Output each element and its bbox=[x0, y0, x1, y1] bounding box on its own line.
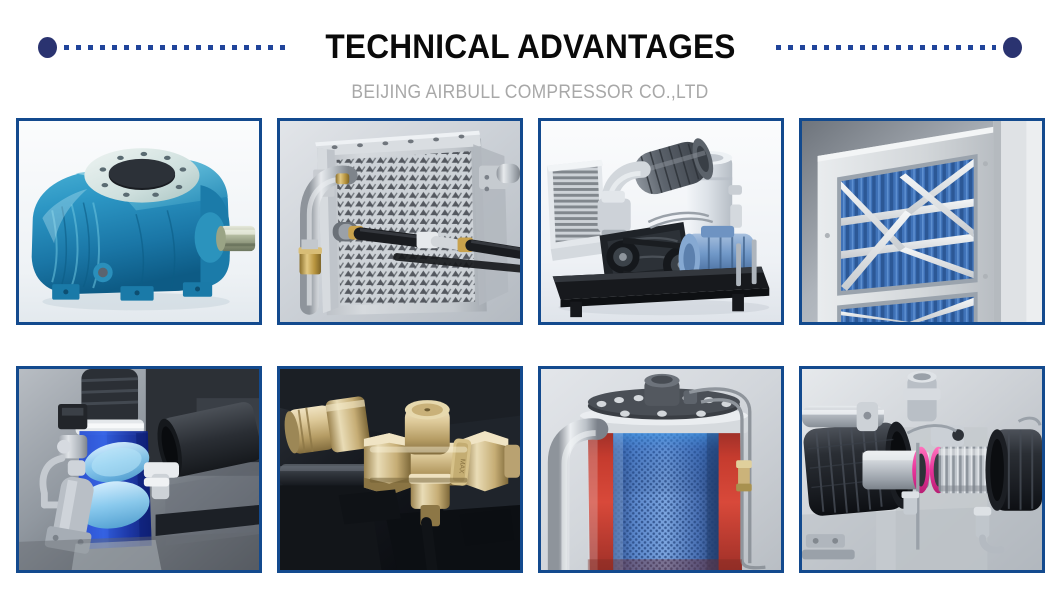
gallery-item-oil-separator-tank-cutaway[interactable] bbox=[538, 366, 784, 573]
air-filter-housing-cutaway-photo bbox=[802, 369, 1042, 570]
pleated-air-filter-panel-photo bbox=[802, 121, 1042, 322]
oil-separator-tank-cutaway-photo bbox=[541, 369, 781, 570]
brass-valve-fittings-photo: MAX bbox=[280, 369, 520, 570]
gallery-item-pleated-air-filter-panel[interactable] bbox=[799, 118, 1045, 325]
gallery-item-aftercooler-heat-exchanger[interactable] bbox=[277, 118, 523, 325]
title-row: TECHNICAL ADVANTAGES bbox=[0, 26, 1060, 68]
page-header: TECHNICAL ADVANTAGES BEIJING AIRBULL COM… bbox=[0, 0, 1060, 104]
compressor-package-unit-photo bbox=[541, 121, 781, 322]
bullet-dot-left-icon bbox=[38, 37, 57, 58]
gallery-item-compressor-package-unit[interactable] bbox=[538, 118, 784, 325]
gallery-item-inlet-control-valve-cutaway[interactable] bbox=[16, 366, 262, 573]
inlet-control-valve-cutaway-photo bbox=[19, 369, 259, 570]
image-gallery: MAX bbox=[16, 118, 1045, 573]
rotary-screw-airend-photo bbox=[19, 121, 259, 322]
page-title: TECHNICAL ADVANTAGES bbox=[308, 28, 752, 67]
gallery-item-air-filter-housing-cutaway[interactable] bbox=[799, 366, 1045, 573]
bullet-dot-right-icon bbox=[1003, 37, 1022, 58]
gallery-item-brass-valve-fittings[interactable]: MAX bbox=[277, 366, 523, 573]
dotted-rule-left bbox=[64, 45, 285, 50]
page-subtitle: BEIJING AIRBULL COMPRESSOR CO.,LTD bbox=[42, 82, 1017, 104]
gallery-item-rotary-screw-airend[interactable] bbox=[16, 118, 262, 325]
dotted-rule-right bbox=[776, 45, 997, 50]
aftercooler-heat-exchanger-photo bbox=[280, 121, 520, 322]
